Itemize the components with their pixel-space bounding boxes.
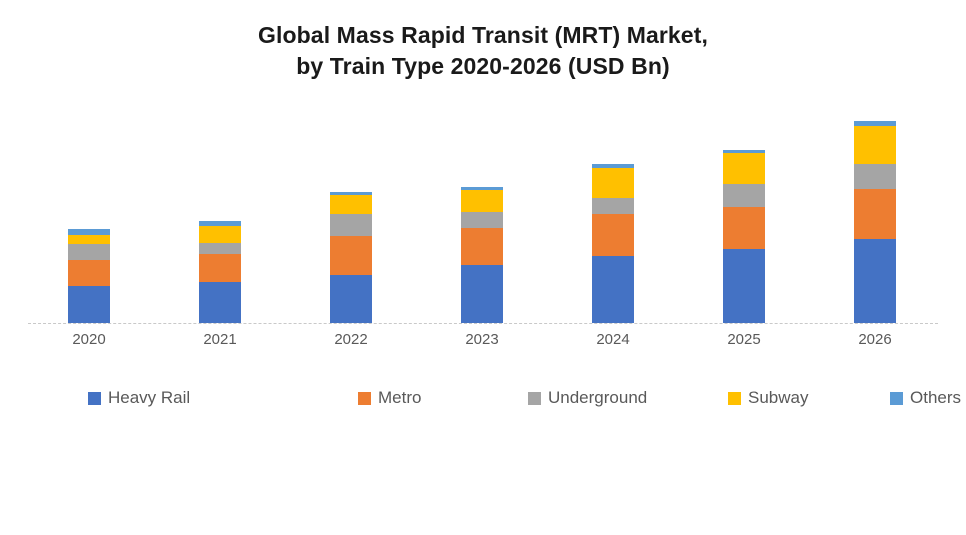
legend-swatch-heavy-rail-icon — [88, 392, 101, 405]
bar-segment-underground-2023[interactable] — [461, 212, 503, 228]
bar-segment-subway-2026[interactable] — [854, 126, 896, 164]
bar-segment-metro-2023[interactable] — [461, 228, 503, 265]
legend-item-metro[interactable]: Metro — [358, 385, 421, 411]
chart-container: Global Mass Rapid Transit (MRT) Market, … — [0, 0, 966, 535]
bar-segment-subway-2024[interactable] — [592, 168, 634, 198]
x-axis-label-2021: 2021 — [175, 330, 265, 350]
bar-segment-subway-2025[interactable] — [723, 153, 765, 184]
bar-segment-metro-2026[interactable] — [854, 189, 896, 239]
bar-segment-underground-2022[interactable] — [330, 214, 372, 236]
bar-column-2024[interactable] — [592, 164, 634, 323]
bar-column-2020[interactable] — [68, 229, 110, 323]
bar-segment-heavy-rail-2025[interactable] — [723, 249, 765, 323]
category-axis-line — [28, 323, 938, 324]
legend-swatch-metro-icon — [358, 392, 371, 405]
legend-item-others[interactable]: Others — [890, 385, 961, 411]
bar-segment-metro-2024[interactable] — [592, 214, 634, 256]
legend-label-metro: Metro — [378, 387, 421, 409]
chart-title-line-1: Global Mass Rapid Transit (MRT) Market, — [258, 22, 708, 48]
legend-label-heavy-rail: Heavy Rail — [108, 387, 190, 409]
bar-segment-heavy-rail-2024[interactable] — [592, 256, 634, 323]
legend-swatch-subway-icon — [728, 392, 741, 405]
bar-segment-heavy-rail-2026[interactable] — [854, 239, 896, 323]
x-axis-label-2022: 2022 — [306, 330, 396, 350]
chart-title: Global Mass Rapid Transit (MRT) Market, … — [0, 20, 966, 82]
bar-segment-metro-2025[interactable] — [723, 207, 765, 249]
bar-segment-subway-2020[interactable] — [68, 235, 110, 244]
bar-segment-underground-2026[interactable] — [854, 164, 896, 189]
legend-item-heavy-rail[interactable]: Heavy Rail — [88, 385, 190, 411]
bar-segment-heavy-rail-2021[interactable] — [199, 282, 241, 323]
bar-segment-underground-2025[interactable] — [723, 184, 765, 206]
bar-segment-heavy-rail-2023[interactable] — [461, 265, 503, 323]
chart-title-line-2: by Train Type 2020-2026 (USD Bn) — [0, 51, 966, 82]
legend-swatch-underground-icon — [528, 392, 541, 405]
legend-label-subway: Subway — [748, 387, 808, 409]
legend-swatch-others-icon — [890, 392, 903, 405]
x-axis-label-2026: 2026 — [830, 330, 920, 350]
stacked-bars-layer — [28, 100, 938, 323]
bar-segment-heavy-rail-2020[interactable] — [68, 286, 110, 323]
bar-segment-metro-2021[interactable] — [199, 254, 241, 282]
bar-column-2025[interactable] — [723, 150, 765, 323]
bar-segment-heavy-rail-2022[interactable] — [330, 275, 372, 323]
legend-item-subway[interactable]: Subway — [728, 385, 808, 411]
bar-column-2022[interactable] — [330, 192, 372, 323]
bar-segment-underground-2021[interactable] — [199, 243, 241, 254]
legend-item-underground[interactable]: Underground — [528, 385, 647, 411]
x-axis-label-2023: 2023 — [437, 330, 527, 350]
legend-label-underground: Underground — [548, 387, 647, 409]
bar-column-2023[interactable] — [461, 187, 503, 323]
chart-legend: Heavy RailMetroUndergroundSubwayOthers — [28, 385, 938, 413]
bar-segment-underground-2024[interactable] — [592, 198, 634, 214]
bar-segment-metro-2020[interactable] — [68, 260, 110, 286]
bar-segment-underground-2020[interactable] — [68, 244, 110, 260]
x-axis-label-2024: 2024 — [568, 330, 658, 350]
x-axis-labels: 2020202120222023202420252026 — [28, 330, 938, 356]
x-axis-label-2020: 2020 — [44, 330, 134, 350]
bar-segment-metro-2022[interactable] — [330, 236, 372, 274]
legend-label-others: Others — [910, 387, 961, 409]
bar-column-2021[interactable] — [199, 221, 241, 323]
bar-segment-subway-2021[interactable] — [199, 226, 241, 242]
x-axis-label-2025: 2025 — [699, 330, 789, 350]
bar-column-2026[interactable] — [854, 121, 896, 323]
bar-segment-subway-2022[interactable] — [330, 195, 372, 214]
bar-segment-subway-2023[interactable] — [461, 190, 503, 211]
plot-area — [28, 100, 938, 324]
